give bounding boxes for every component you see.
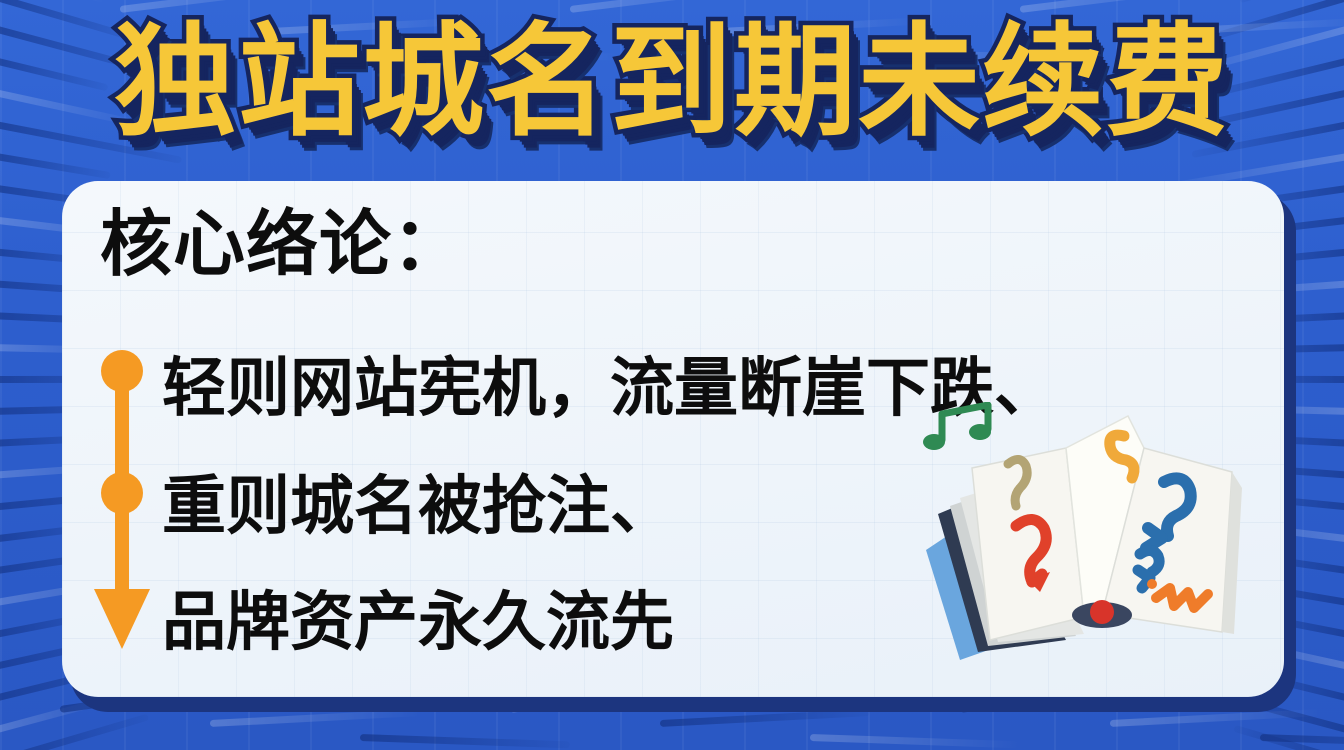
book-svg [916, 402, 1246, 667]
poster-title-area: 独站城名到期未续费 [0, 2, 1344, 162]
down-arrow-with-dots-icon [90, 349, 154, 659]
poster-canvas: 独站城名到期未续费 核心络论： 轻则网站宪机，流量断崖下跌、 重则城名被抢注、 … [0, 0, 1344, 750]
page-title: 独站城名到期未续费 [114, 21, 1230, 143]
card-heading: 核心络论： [100, 208, 465, 280]
background-ray [810, 734, 1020, 748]
arrow-svg [90, 349, 154, 659]
open-book-icon [916, 402, 1246, 667]
list-item: 重则城名被抢注、 [162, 475, 674, 539]
content-card: 核心络论： 轻则网站宪机，流量断崖下跌、 重则城名被抢注、 品牌资产永久流先 [62, 181, 1284, 697]
background-ray [360, 734, 570, 748]
book-bookmark-dot [1090, 600, 1114, 624]
music-note-icon [923, 405, 991, 450]
list-item: 品牌资产永久流先 [162, 591, 674, 655]
